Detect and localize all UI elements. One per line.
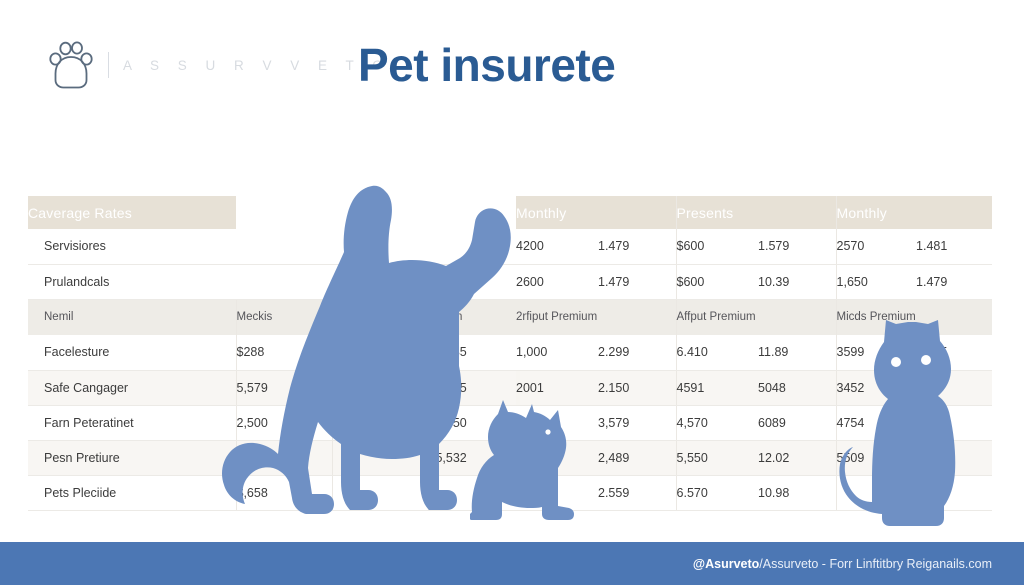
right-row-0-c2: 6.410 [676, 335, 758, 370]
right-toprow-1-c1: 1.479 [598, 264, 676, 299]
left-row-2-val-0: 2,500 [236, 405, 332, 440]
paw-icon [48, 40, 94, 90]
left-row-2-val-1: 5,259 [332, 405, 428, 440]
right-row-0-c5: 2,775 [916, 335, 992, 370]
table-subheader-row: 2rfiput Premium Affput Premium Micds Pre… [516, 299, 992, 335]
left-subheader-2: Snetle [332, 299, 428, 335]
table-row-band-header: Monthly Presents Monthly [516, 196, 992, 229]
table-row[interactable]: 4200 1.479 $600 1.579 2570 1.481 [516, 229, 992, 264]
right-band-header-2: Monthly [836, 196, 992, 229]
left-toprow-blank-0a [236, 229, 332, 264]
right-row-1-c4: 3452 [836, 370, 916, 405]
right-band-header-0: Monthly [516, 196, 676, 229]
left-toprow-blank-1a [236, 264, 332, 299]
left-row-0-val-2: 1$,735 [428, 335, 520, 370]
right-toprow-1-c2: $600 [676, 264, 758, 299]
table-row[interactable]: Pets Pleciide $,658 [28, 475, 520, 510]
right-toprow-0-c5: 1.481 [916, 229, 992, 264]
right-row-1-c0: 2001 [516, 370, 598, 405]
right-row-3-c3: 12.02 [758, 440, 836, 475]
table-row[interactable]: 3,100 2,489 5,550 12.02 5509 $175 [516, 440, 992, 475]
right-row-0-c3: 11.89 [758, 335, 836, 370]
left-row-0-val-1: $954 [332, 335, 428, 370]
left-row-1-val-0: 5,579 [236, 370, 332, 405]
right-toprow-1-c0: 2600 [516, 264, 598, 299]
slide-canvas: A S S U R V V E T O Pet insurete Caverag… [0, 0, 1024, 585]
right-row-2-c3: 6089 [758, 405, 836, 440]
coverage-rates-table: Caverage Rates Servisiores Prulandcals N… [28, 196, 520, 511]
right-row-4-c4 [836, 475, 916, 510]
right-toprow-1-c4: 1,650 [836, 264, 916, 299]
right-subheader-1: Affput Premium [676, 299, 836, 335]
left-row-2-label: Farn Peteratinet [28, 405, 236, 440]
right-row-2-c2: 4,570 [676, 405, 758, 440]
logo-group: A S S U R V V E T O [48, 40, 390, 90]
right-row-1-c5: 2555 [916, 370, 992, 405]
left-toprow-label-1: Prulandcals [28, 264, 236, 299]
left-row-0-label: Facelesture [28, 335, 236, 370]
right-toprow-0-c1: 1.479 [598, 229, 676, 264]
right-row-2-c0: 2,500 [516, 405, 598, 440]
page-title: Pet insurete [358, 38, 615, 92]
left-band-spacer-2 [332, 196, 428, 229]
left-row-3-val-2: 15,532 [428, 440, 520, 475]
right-row-3-c0: 3,100 [516, 440, 598, 475]
right-row-4-c3: 10.98 [758, 475, 836, 510]
right-row-1-c3: 5048 [758, 370, 836, 405]
left-toprow-blank-0c [428, 229, 520, 264]
table-row[interactable]: 2001 2.150 4591 5048 3452 2555 [516, 370, 992, 405]
right-toprow-1-c3: 10.39 [758, 264, 836, 299]
left-row-4-val-0: $,658 [236, 475, 332, 510]
right-row-4-c1: 2.559 [598, 475, 676, 510]
left-toprow-blank-1c [428, 264, 520, 299]
table-row[interactable]: Prulandcals [28, 264, 520, 299]
right-band-header-1: Presents [676, 196, 836, 229]
left-toprow-blank-1b [332, 264, 428, 299]
right-row-0-c1: 2.299 [598, 335, 676, 370]
right-row-0-c0: 1,000 [516, 335, 598, 370]
left-row-1-val-1: 4,215 [332, 370, 428, 405]
brand-name: A S S U R V V E T O [123, 58, 390, 73]
left-subheader-0: Nemil [28, 299, 236, 335]
table-subheader-row: Nemil Meckis Snetle Mction [28, 299, 520, 335]
right-toprow-0-c3: 1.579 [758, 229, 836, 264]
table-row[interactable]: Safe Cangager 5,579 4,215 1$,545 [28, 370, 520, 405]
table-row[interactable]: Pesn Pretiure $009 15,532 [28, 440, 520, 475]
left-row-3-val-1 [332, 440, 428, 475]
footer-text: @Asurveto/Assurveto - Forr Linftitbry Re… [693, 557, 1024, 571]
left-row-4-label: Pets Pleciide [28, 475, 236, 510]
left-row-1-label: Safe Cangager [28, 370, 236, 405]
right-row-4-c2: 6.570 [676, 475, 758, 510]
slide-header: A S S U R V V E T O Pet insurete [0, 0, 1024, 140]
right-toprow-0-c2: $600 [676, 229, 758, 264]
table-row[interactable]: Facelesture $288 $954 1$,735 [28, 335, 520, 370]
right-toprow-0-c0: 4200 [516, 229, 598, 264]
right-toprow-0-c4: 2570 [836, 229, 916, 264]
right-subheader-2: Micds Premium [836, 299, 992, 335]
right-row-1-c1: 2.150 [598, 370, 676, 405]
left-row-4-val-1 [332, 475, 428, 510]
left-band-spacer-3 [428, 196, 520, 229]
left-row-3-label: Pesn Pretiure [28, 440, 236, 475]
left-band-spacer-1 [236, 196, 332, 229]
table-row[interactable]: 1,854 2.559 6.570 10.98 [516, 475, 992, 510]
left-row-0-val-0: $288 [236, 335, 332, 370]
right-row-4-c5 [916, 475, 992, 510]
left-row-1-val-2: 1$,545 [428, 370, 520, 405]
right-row-2-c5: 2256 [916, 405, 992, 440]
left-toprow-label-0: Servisiores [28, 229, 236, 264]
table-row[interactable]: Farn Peteratinet 2,500 5,259 1$,750 [28, 405, 520, 440]
table-row-band-header: Caverage Rates [28, 196, 520, 229]
left-band-header: Caverage Rates [28, 196, 236, 229]
right-row-4-c0: 1,854 [516, 475, 598, 510]
footer-bar: @Asurveto/Assurveto - Forr Linftitbry Re… [0, 542, 1024, 585]
right-subheader-0: 2rfiput Premium [516, 299, 676, 335]
right-row-1-c2: 4591 [676, 370, 758, 405]
table-row[interactable]: 2600 1.479 $600 10.39 1,650 1.479 [516, 264, 992, 299]
right-row-3-c4: 5509 [836, 440, 916, 475]
table-row[interactable]: 2,500 3,579 4,570 6089 4754 2256 [516, 405, 992, 440]
table-row[interactable]: 1,000 2.299 6.410 11.89 3599 2,775 [516, 335, 992, 370]
footer-rest: /Assurveto - Forr Linftitbry Reiganails.… [759, 557, 992, 571]
left-subheader-3: Mction [428, 299, 520, 335]
right-row-0-c4: 3599 [836, 335, 916, 370]
left-toprow-blank-0b [332, 229, 428, 264]
right-row-2-c1: 3,579 [598, 405, 676, 440]
table-row[interactable]: Servisiores [28, 229, 520, 264]
right-row-2-c4: 4754 [836, 405, 916, 440]
left-row-4-val-2 [428, 475, 520, 510]
premium-rates-table: Monthly Presents Monthly 4200 1.479 $600… [516, 196, 992, 511]
right-row-3-c2: 5,550 [676, 440, 758, 475]
left-row-3-val-0: $009 [236, 440, 332, 475]
footer-handle: @Asurveto [693, 557, 759, 571]
left-subheader-1: Meckis [236, 299, 332, 335]
right-row-3-c1: 2,489 [598, 440, 676, 475]
left-row-2-val-2: 1$,750 [428, 405, 520, 440]
logo-divider [108, 52, 109, 78]
right-row-3-c5: $175 [916, 440, 992, 475]
right-toprow-1-c5: 1.479 [916, 264, 992, 299]
